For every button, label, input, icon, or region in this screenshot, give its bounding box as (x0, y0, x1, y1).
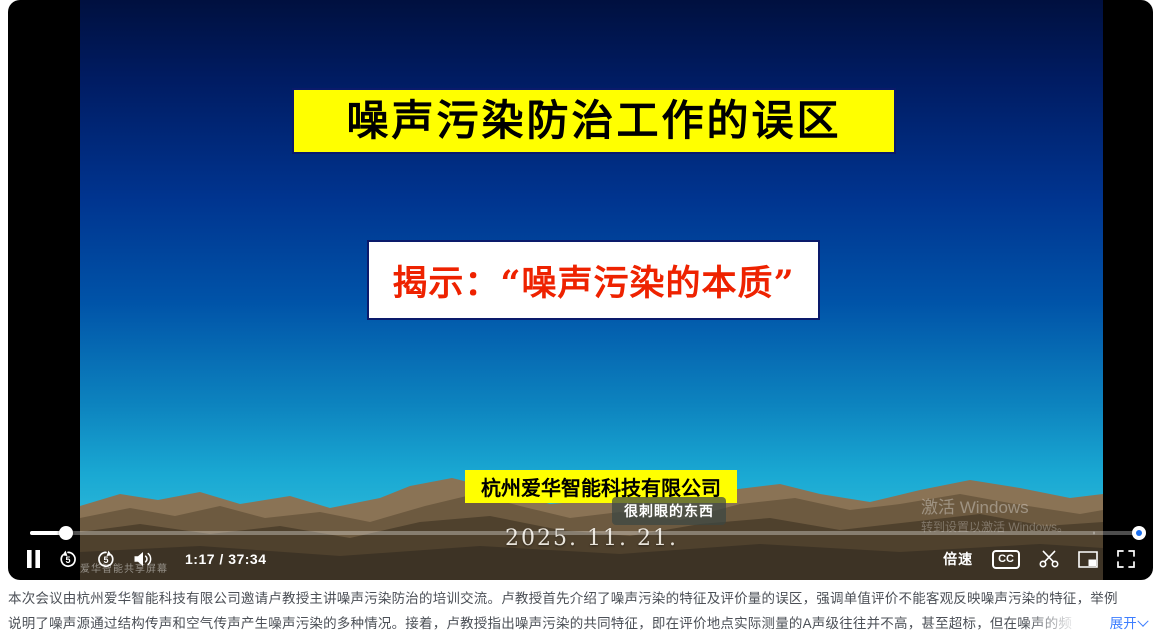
clip-button[interactable] (1039, 550, 1059, 568)
progress-bar[interactable] (30, 531, 1095, 535)
rewind-5-icon: 5 (57, 548, 79, 570)
captions-button[interactable]: CC (992, 550, 1020, 569)
description-line-2-wrap: 说明了噪声源通过结构传声和空气传声产生噪声污染的多种情况。接着，卢教授指出噪声污… (8, 611, 1153, 636)
description-line-1: 本次会议由杭州爱华智能科技有限公司邀请卢教授主讲噪声污染防治的培训交流。卢教授首… (8, 586, 1153, 611)
picture-in-picture-icon (1078, 551, 1098, 568)
video-player[interactable]: 噪声污染防治工作的误区 揭示：“噪声污染的本质” 杭州爱华智能科技有限公司 20… (8, 0, 1153, 580)
playback-speed-button[interactable]: 倍速 (943, 549, 973, 569)
rewind-5-button[interactable]: 5 (57, 548, 79, 570)
video-surface[interactable]: 噪声污染防治工作的误区 揭示：“噪声污染的本质” 杭州爱华智能科技有限公司 20… (80, 0, 1103, 580)
volume-button[interactable] (133, 550, 155, 568)
player-controls: 5 5 1:17 / 3 (8, 538, 1153, 580)
scissors-icon (1039, 550, 1059, 568)
slide-title: 噪声污染防治工作的误区 (346, 100, 841, 142)
pause-icon (26, 550, 41, 568)
video-description: 本次会议由杭州爱华智能科技有限公司邀请卢教授主讲噪声污染防治的培训交流。卢教授首… (0, 586, 1161, 636)
forward-5-button[interactable]: 5 (95, 548, 117, 570)
expand-description-button[interactable]: 展开 (1104, 611, 1147, 636)
slide-subtitle: 揭示：“噪声污染的本质” (392, 255, 794, 306)
slide-subtitle-box: 揭示：“噪声污染的本质” (367, 240, 820, 320)
svg-text:5: 5 (103, 555, 108, 565)
chevron-down-icon (1137, 615, 1148, 626)
expand-label: 展开 (1110, 611, 1137, 636)
slide-title-box: 噪声污染防治工作的误区 (292, 88, 896, 154)
controls-left-group: 5 5 1:17 / 3 (26, 538, 267, 580)
svg-text:5: 5 (65, 555, 70, 565)
fullscreen-button[interactable] (1117, 550, 1135, 568)
page-root: 噪声污染防治工作的误区 揭示：“噪声污染的本质” 杭州爱华智能科技有限公司 20… (0, 0, 1161, 637)
danmaku-comment: 很刺眼的东西 (612, 497, 726, 525)
picture-in-picture-button[interactable] (1078, 551, 1098, 568)
description-line-2: 说明了噪声源通过结构传声和空气传声产生噪声污染的多种情况。接着，卢教授指出噪声污… (8, 616, 1072, 631)
fullscreen-icon (1117, 550, 1135, 568)
pause-button[interactable] (26, 550, 41, 568)
time-display: 1:17 / 37:34 (185, 551, 267, 567)
forward-5-icon: 5 (95, 548, 117, 570)
volume-icon (133, 550, 155, 568)
volume-slider[interactable] (1093, 531, 1145, 535)
description-fade (1025, 611, 1095, 636)
controls-right-group: 倍速 CC (943, 538, 1135, 580)
